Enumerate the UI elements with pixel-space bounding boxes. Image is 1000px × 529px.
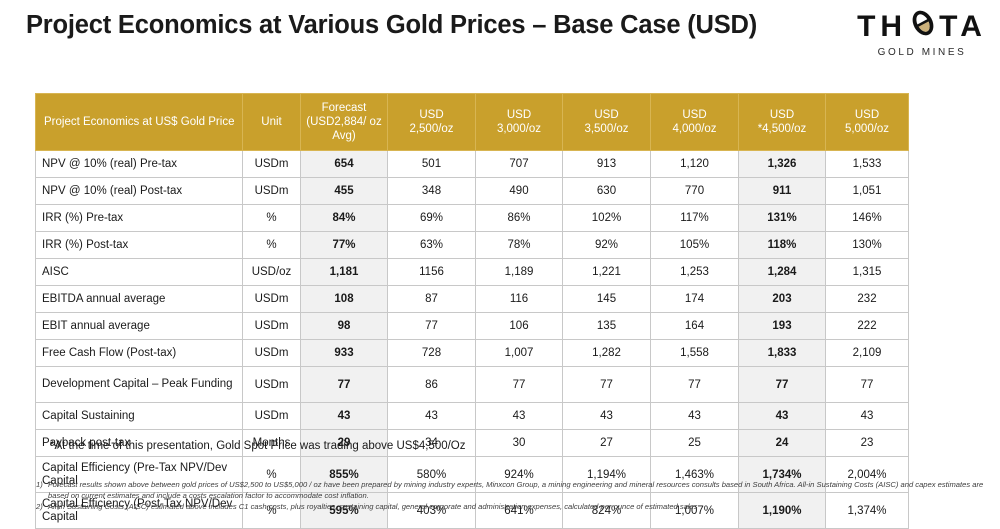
cell-forecast: 43 xyxy=(301,403,388,430)
cell-usd-3000: 1,007 xyxy=(476,340,563,367)
table-row: NPV @ 10% (real) Post-taxUSDm45534849063… xyxy=(36,178,909,205)
table-row: Free Cash Flow (Post-tax)USDm9337281,007… xyxy=(36,340,909,367)
header-usd-4000: USD 4,000/oz xyxy=(651,94,739,151)
cell-unit: USDm xyxy=(243,286,301,313)
header-usd-3500: USD 3,500/oz xyxy=(563,94,651,151)
spot-price-note: *At the time of this presentation, Gold … xyxy=(50,440,466,452)
table-header-row: Project Economics at US$ Gold Price Unit… xyxy=(36,94,909,151)
logo-tagline: GOLD MINES xyxy=(852,47,992,58)
header-usd-3500-line1: USD xyxy=(594,109,618,121)
cell-usd-2500: 87 xyxy=(388,286,476,313)
cell-metric-label: Free Cash Flow (Post-tax) xyxy=(36,340,243,367)
cell-usd-3000: 30 xyxy=(476,430,563,457)
header-usd-4500-line2: *4,500/oz xyxy=(758,123,807,135)
cell-unit: USDm xyxy=(243,403,301,430)
cell-unit: USDm xyxy=(243,313,301,340)
table-row: Development Capital – Peak FundingUSDm77… xyxy=(36,367,909,403)
header-usd-3000-line2: 3,000/oz xyxy=(497,123,541,135)
cell-usd-3500: 77 xyxy=(563,367,651,403)
header-unit: Unit xyxy=(243,94,301,151)
cell-usd-3500: 1,282 xyxy=(563,340,651,367)
theta-icon xyxy=(908,8,938,46)
cell-usd-4000: 164 xyxy=(651,313,739,340)
cell-usd-5000: 1,315 xyxy=(826,259,909,286)
footnotes: 1)Forecast results shown above between g… xyxy=(28,480,988,514)
cell-usd-4500: 118% xyxy=(739,232,826,259)
cell-usd-5000: 232 xyxy=(826,286,909,313)
cell-usd-3000: 78% xyxy=(476,232,563,259)
cell-usd-4000: 174 xyxy=(651,286,739,313)
cell-usd-4500: 43 xyxy=(739,403,826,430)
cell-usd-4500: 1,833 xyxy=(739,340,826,367)
cell-usd-2500: 1156 xyxy=(388,259,476,286)
cell-forecast: 654 xyxy=(301,151,388,178)
cell-metric-label: IRR (%) Pre-tax xyxy=(36,205,243,232)
cell-unit: USD/oz xyxy=(243,259,301,286)
header-usd-4000-line1: USD xyxy=(682,109,706,121)
footnote-item: 2)All-in Sustaining Costs (AISC) estimat… xyxy=(28,502,988,513)
cell-usd-4500: 77 xyxy=(739,367,826,403)
header-usd-2500: USD 2,500/oz xyxy=(388,94,476,151)
header-usd-3000: USD 3,000/oz xyxy=(476,94,563,151)
cell-usd-4500: 1,326 xyxy=(739,151,826,178)
cell-usd-3500: 913 xyxy=(563,151,651,178)
cell-forecast: 77% xyxy=(301,232,388,259)
cell-usd-3000: 43 xyxy=(476,403,563,430)
cell-usd-4500: 911 xyxy=(739,178,826,205)
cell-usd-3500: 102% xyxy=(563,205,651,232)
cell-usd-5000: 1,051 xyxy=(826,178,909,205)
logo-text-pre: TH xyxy=(857,10,907,44)
footnote-text: Forecast results shown above between gol… xyxy=(48,480,988,501)
logo-wordmark: TH TA xyxy=(852,8,992,46)
cell-forecast: 455 xyxy=(301,178,388,205)
cell-usd-3500: 135 xyxy=(563,313,651,340)
cell-usd-5000: 146% xyxy=(826,205,909,232)
cell-usd-4000: 1,253 xyxy=(651,259,739,286)
cell-metric-label: Development Capital – Peak Funding xyxy=(36,367,243,403)
logo-text-post: TA xyxy=(939,10,987,44)
cell-usd-3000: 116 xyxy=(476,286,563,313)
cell-usd-4000: 1,120 xyxy=(651,151,739,178)
cell-usd-3000: 707 xyxy=(476,151,563,178)
cell-usd-3500: 145 xyxy=(563,286,651,313)
header-usd-3000-line1: USD xyxy=(507,109,531,121)
header-usd-4000-line2: 4,000/oz xyxy=(672,123,716,135)
table-row: EBITDA annual averageUSDm108871161451742… xyxy=(36,286,909,313)
cell-metric-label: NPV @ 10% (real) Post-tax xyxy=(36,178,243,205)
cell-usd-3000: 77 xyxy=(476,367,563,403)
footnote-text: All-in Sustaining Costs (AISC) estimated… xyxy=(48,502,988,513)
header-usd-5000-line2: 5,000/oz xyxy=(845,123,889,135)
cell-usd-4000: 77 xyxy=(651,367,739,403)
cell-usd-5000: 43 xyxy=(826,403,909,430)
header-usd-5000-line1: USD xyxy=(855,109,879,121)
project-economics-table: Project Economics at US$ Gold Price Unit… xyxy=(35,93,909,529)
header-forecast-line2: (USD2,884/ oz Avg) xyxy=(306,116,381,142)
cell-forecast: 77 xyxy=(301,367,388,403)
page-title: Project Economics at Various Gold Prices… xyxy=(26,11,757,40)
cell-unit: USDm xyxy=(243,151,301,178)
cell-usd-4000: 1,558 xyxy=(651,340,739,367)
cell-usd-3500: 27 xyxy=(563,430,651,457)
cell-usd-2500: 43 xyxy=(388,403,476,430)
cell-usd-5000: 77 xyxy=(826,367,909,403)
cell-metric-label: NPV @ 10% (real) Pre-tax xyxy=(36,151,243,178)
cell-usd-2500: 77 xyxy=(388,313,476,340)
cell-usd-4500: 193 xyxy=(739,313,826,340)
cell-forecast: 98 xyxy=(301,313,388,340)
cell-usd-4000: 105% xyxy=(651,232,739,259)
cell-metric-label: IRR (%) Post-tax xyxy=(36,232,243,259)
header-usd-4500-line1: USD xyxy=(770,109,794,121)
cell-usd-5000: 2,109 xyxy=(826,340,909,367)
footnote-number: 1) xyxy=(28,480,48,501)
cell-usd-3000: 86% xyxy=(476,205,563,232)
cell-forecast: 1,181 xyxy=(301,259,388,286)
cell-usd-2500: 86 xyxy=(388,367,476,403)
cell-forecast: 933 xyxy=(301,340,388,367)
cell-unit: % xyxy=(243,205,301,232)
cell-metric-label: AISC xyxy=(36,259,243,286)
table-body: NPV @ 10% (real) Pre-taxUSDm654501707913… xyxy=(36,151,909,529)
header-usd-5000: USD 5,000/oz xyxy=(826,94,909,151)
cell-usd-3000: 1,189 xyxy=(476,259,563,286)
cell-metric-label: EBIT annual average xyxy=(36,313,243,340)
cell-usd-3500: 1,221 xyxy=(563,259,651,286)
company-logo: TH TA GOLD MINES xyxy=(852,8,992,58)
cell-usd-3000: 106 xyxy=(476,313,563,340)
header-metric-label: Project Economics at US$ Gold Price xyxy=(44,116,234,128)
cell-usd-4500: 131% xyxy=(739,205,826,232)
cell-metric-label: Capital Sustaining xyxy=(36,403,243,430)
cell-usd-5000: 1,533 xyxy=(826,151,909,178)
table-row: AISCUSD/oz1,18111561,1891,2211,2531,2841… xyxy=(36,259,909,286)
header-usd-3500-line2: 3,500/oz xyxy=(584,123,628,135)
cell-usd-2500: 728 xyxy=(388,340,476,367)
cell-unit: % xyxy=(243,232,301,259)
cell-usd-4500: 203 xyxy=(739,286,826,313)
cell-usd-5000: 23 xyxy=(826,430,909,457)
cell-usd-2500: 69% xyxy=(388,205,476,232)
cell-usd-4000: 43 xyxy=(651,403,739,430)
cell-usd-3500: 92% xyxy=(563,232,651,259)
header-unit-label: Unit xyxy=(261,116,281,128)
header-usd-2500-line2: 2,500/oz xyxy=(409,123,453,135)
cell-usd-3500: 43 xyxy=(563,403,651,430)
cell-usd-3500: 630 xyxy=(563,178,651,205)
cell-unit: USDm xyxy=(243,178,301,205)
header-forecast: Forecast (USD2,884/ oz Avg) xyxy=(301,94,388,151)
cell-usd-4000: 25 xyxy=(651,430,739,457)
header-usd-2500-line1: USD xyxy=(419,109,443,121)
footnote-item: 1)Forecast results shown above between g… xyxy=(28,480,988,501)
footnote-number: 2) xyxy=(28,502,48,513)
cell-usd-4500: 1,284 xyxy=(739,259,826,286)
table-row: IRR (%) Post-tax%77%63%78%92%105%118%130… xyxy=(36,232,909,259)
cell-usd-4000: 770 xyxy=(651,178,739,205)
cell-usd-3000: 490 xyxy=(476,178,563,205)
cell-usd-2500: 348 xyxy=(388,178,476,205)
table-row: EBIT annual averageUSDm98771061351641932… xyxy=(36,313,909,340)
header-usd-4500: USD *4,500/oz xyxy=(739,94,826,151)
cell-unit: USDm xyxy=(243,367,301,403)
table-row: NPV @ 10% (real) Pre-taxUSDm654501707913… xyxy=(36,151,909,178)
cell-usd-4500: 24 xyxy=(739,430,826,457)
cell-forecast: 108 xyxy=(301,286,388,313)
cell-forecast: 84% xyxy=(301,205,388,232)
table-row: Capital SustainingUSDm43434343434343 xyxy=(36,403,909,430)
cell-usd-2500: 501 xyxy=(388,151,476,178)
cell-metric-label: EBITDA annual average xyxy=(36,286,243,313)
cell-usd-5000: 222 xyxy=(826,313,909,340)
cell-usd-5000: 130% xyxy=(826,232,909,259)
cell-usd-4000: 117% xyxy=(651,205,739,232)
cell-usd-2500: 63% xyxy=(388,232,476,259)
header-forecast-line1: Forecast xyxy=(322,102,367,114)
cell-unit: USDm xyxy=(243,340,301,367)
table-row: IRR (%) Pre-tax%84%69%86%102%117%131%146… xyxy=(36,205,909,232)
header-metric: Project Economics at US$ Gold Price xyxy=(36,94,243,151)
